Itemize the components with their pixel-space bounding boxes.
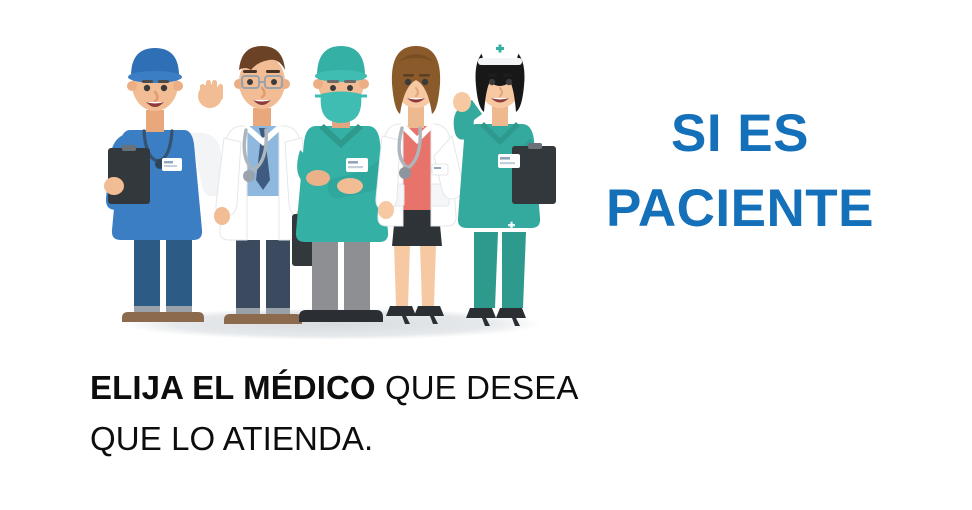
headline-line-1: SI ES (671, 104, 809, 163)
caption-line-2: QUE LO ATIENDA. (90, 414, 730, 465)
caption-rest-part: QUE DESEA (376, 369, 579, 406)
medical-team-illustration (100, 18, 560, 348)
figure-doctor-blue-scrubs (104, 48, 226, 322)
slide-canvas: SI ES PACIENTE ELIJA EL MÉDICO QUE DESEA… (0, 0, 972, 510)
figure-surgeon-teal-scrubs (296, 46, 388, 322)
headline-si-es-paciente: SI ES PACIENTE (540, 96, 940, 247)
caption-bold-part: ELIJA EL MÉDICO (90, 369, 376, 406)
caption-text: ELIJA EL MÉDICO QUE DESEA QUE LO ATIENDA… (90, 363, 730, 465)
headline-line-2: PACIENTE (540, 171, 940, 246)
figure-doctor-white-coat-female (376, 46, 463, 324)
